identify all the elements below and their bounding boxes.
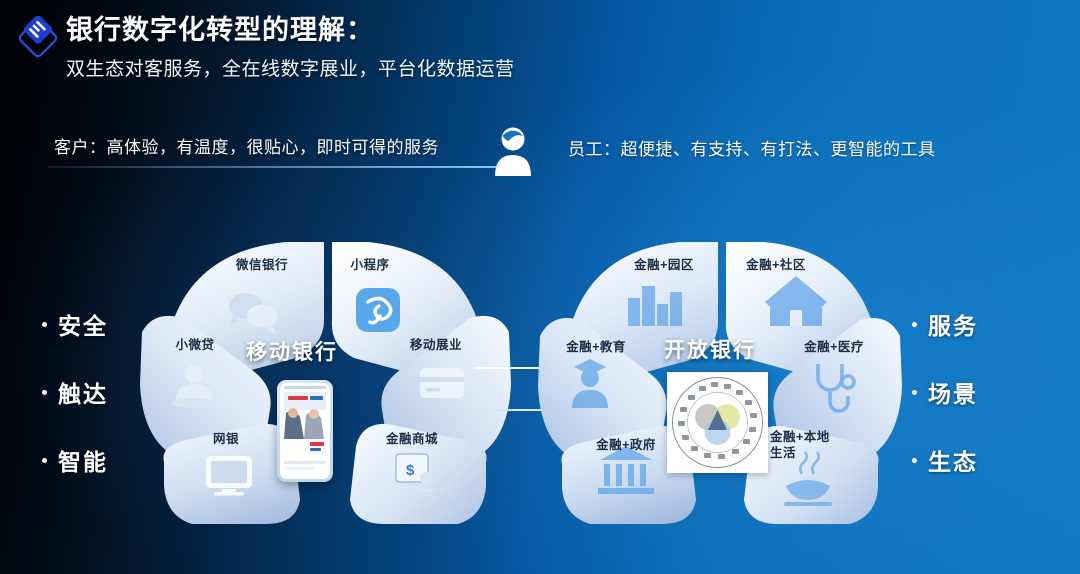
open-banking-ecosystem-wheel	[667, 372, 768, 473]
page-title: 银行数字化转型的理解：	[66, 14, 515, 48]
left-keyword-item: 安全	[42, 290, 108, 358]
right-keyword-list: 服务 场景 生态	[912, 290, 978, 494]
bullet-dot-icon	[912, 390, 917, 395]
right-keyword-label: 场景	[928, 375, 978, 409]
left-keyword-item: 智能	[42, 426, 108, 494]
left-keyword-label: 触达	[58, 375, 108, 409]
right-keyword-item: 生态	[912, 426, 978, 494]
phone-screen	[280, 383, 330, 479]
mini-program-icon	[356, 288, 400, 332]
employee-statement: 员工：超便捷、有支持、有打法、更智能的工具	[568, 135, 936, 160]
bullet-dot-icon	[912, 458, 917, 463]
right-keyword-item: 服务	[912, 290, 978, 358]
left-keyword-label: 安全	[58, 307, 108, 341]
mobile-banking-cluster: $ 微信银行 小程序 移动展业 金融商城 网银 小微贷 移动银行	[128, 228, 518, 528]
bullet-dot-icon	[912, 322, 917, 327]
bullet-dot-icon	[42, 458, 47, 463]
right-keyword-item: 场景	[912, 358, 978, 426]
right-keyword-label: 生态	[928, 443, 978, 477]
customer-statement: 客户：高体验，有温度，很贴心，即时可得的服务	[54, 133, 439, 158]
user-avatar-icon	[492, 124, 534, 176]
bullet-dot-icon	[42, 322, 47, 327]
left-keyword-label: 智能	[58, 443, 108, 477]
slide-canvas: 银行数字化转型的理解： 双生态对客服务，全在线数字展业，平台化数据运营 客户：高…	[0, 0, 1080, 574]
brand-diamond-logo-icon	[16, 16, 60, 60]
page-subtitle: 双生态对客服务，全在线数字展业，平台化数据运营	[66, 54, 515, 81]
left-keyword-list: 安全 触达 智能	[42, 290, 108, 494]
open-banking-title: 开放银行	[664, 334, 756, 364]
bank-card-icon	[420, 368, 464, 398]
left-keyword-item: 触达	[42, 358, 108, 426]
mobile-banking-title: 移动银行	[246, 336, 338, 366]
right-keyword-label: 服务	[928, 307, 978, 341]
mobile-app-phone-mockup	[277, 380, 333, 482]
svg-text:$: $	[406, 462, 415, 479]
customer-underline	[48, 166, 502, 168]
title-block: 银行数字化转型的理解： 双生态对客服务，全在线数字展业，平台化数据运营	[66, 14, 515, 81]
bullet-dot-icon	[42, 390, 47, 395]
